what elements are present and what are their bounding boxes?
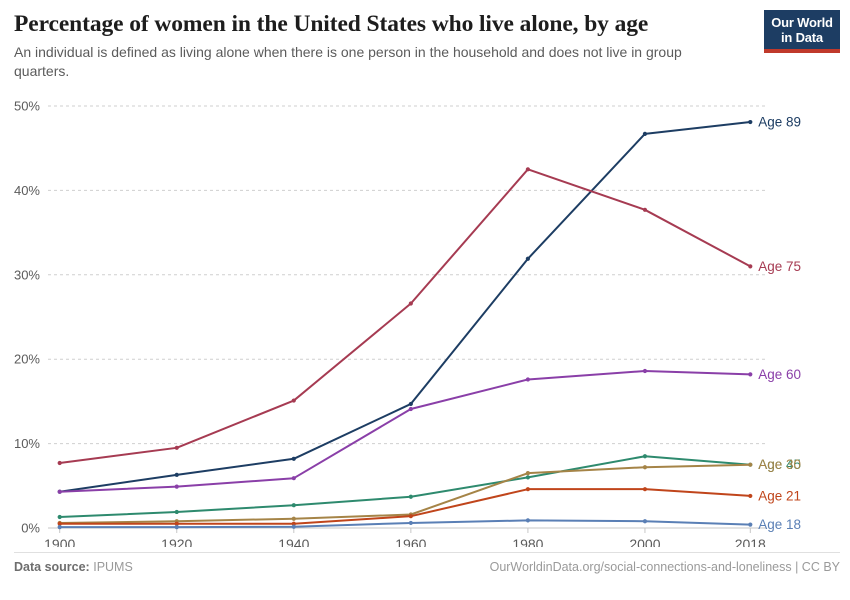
series-data-point[interactable] [643,132,647,136]
series-data-point[interactable] [175,473,179,477]
chart-footer: Data source: IPUMS OurWorldinData.org/so… [14,552,840,586]
series-data-point[interactable] [58,515,62,519]
series-end-label[interactable]: Age 89 [758,115,801,130]
y-axis-tick-label: 40% [14,183,40,198]
series-data-point[interactable] [526,471,530,475]
series-data-point[interactable] [292,457,296,461]
series-data-point[interactable] [643,487,647,491]
y-axis-tick-label: 0% [21,521,40,536]
chart-subtitle: An individual is defined as living alone… [14,43,730,81]
series-end-label[interactable]: Age 21 [758,488,801,503]
series-data-point[interactable] [526,475,530,479]
series-data-point[interactable] [409,301,413,305]
our-world-in-data-logo[interactable]: Our World in Data [764,10,840,53]
series-end-label[interactable]: Age 30 [758,457,801,472]
series-data-point[interactable] [292,476,296,480]
series-end-label[interactable]: Age 75 [758,259,801,274]
series-data-point[interactable] [292,398,296,402]
series-data-point[interactable] [409,402,413,406]
series-end-label[interactable]: Age 18 [758,517,801,532]
chart-page: Percentage of women in the United States… [0,0,850,600]
series-data-point[interactable] [409,495,413,499]
data-source-label: Data source: [14,560,90,574]
y-axis-tick-label: 20% [14,352,40,367]
x-axis-tick-label: 1900 [44,536,75,547]
series-data-point[interactable] [292,517,296,521]
series-line[interactable] [60,122,751,492]
series-data-point[interactable] [748,264,752,268]
logo-line-1: Our World [764,15,840,30]
page-title: Percentage of women in the United States… [14,10,754,38]
y-axis-tick-label: 50% [14,99,40,114]
series-data-point[interactable] [175,446,179,450]
series-data-point[interactable] [526,167,530,171]
series-data-point[interactable] [643,465,647,469]
series-data-point[interactable] [748,523,752,527]
series-data-point[interactable] [643,208,647,212]
series-line[interactable] [60,371,751,492]
series-data-point[interactable] [292,525,296,529]
series-data-point[interactable] [175,525,179,529]
series-data-point[interactable] [748,120,752,124]
series-data-point[interactable] [526,518,530,522]
x-axis-tick-label: 1920 [161,536,192,547]
series-end-label[interactable]: Age 60 [758,367,801,382]
series-data-point[interactable] [409,521,413,525]
series-data-point[interactable] [409,514,413,518]
data-source-value: IPUMS [93,560,133,574]
data-source: Data source: IPUMS [14,560,133,574]
series-line[interactable] [60,489,751,524]
series-line[interactable] [60,169,751,463]
series-data-point[interactable] [526,257,530,261]
attribution-link[interactable]: OurWorldinData.org/social-connections-an… [490,560,840,574]
x-axis-tick-label: 1960 [395,536,426,547]
x-axis-tick-label: 2000 [629,536,660,547]
series-data-point[interactable] [748,494,752,498]
series-data-point[interactable] [643,369,647,373]
series-data-point[interactable] [58,525,62,529]
series-data-point[interactable] [175,485,179,489]
series-data-point[interactable] [292,503,296,507]
y-axis-tick-label: 10% [14,436,40,451]
series-data-point[interactable] [526,487,530,491]
logo-line-2: in Data [764,30,840,45]
series-line[interactable] [60,465,751,523]
series-data-point[interactable] [643,454,647,458]
y-axis-tick-label: 30% [14,267,40,282]
chart-header: Percentage of women in the United States… [14,10,754,81]
series-data-point[interactable] [409,407,413,411]
chart-plot-area[interactable]: 0%10%20%30%40%50%19001920194019601980200… [0,92,850,547]
series-data-point[interactable] [58,490,62,494]
line-chart-svg[interactable]: 0%10%20%30%40%50%19001920194019601980200… [0,92,850,547]
series-data-point[interactable] [526,377,530,381]
series-data-point[interactable] [58,461,62,465]
series-data-point[interactable] [748,372,752,376]
series-data-point[interactable] [643,519,647,523]
x-axis-tick-label: 2018 [735,536,766,547]
x-axis-tick-label: 1940 [278,536,309,547]
series-data-point[interactable] [175,510,179,514]
x-axis-tick-label: 1980 [512,536,543,547]
series-data-point[interactable] [748,463,752,467]
